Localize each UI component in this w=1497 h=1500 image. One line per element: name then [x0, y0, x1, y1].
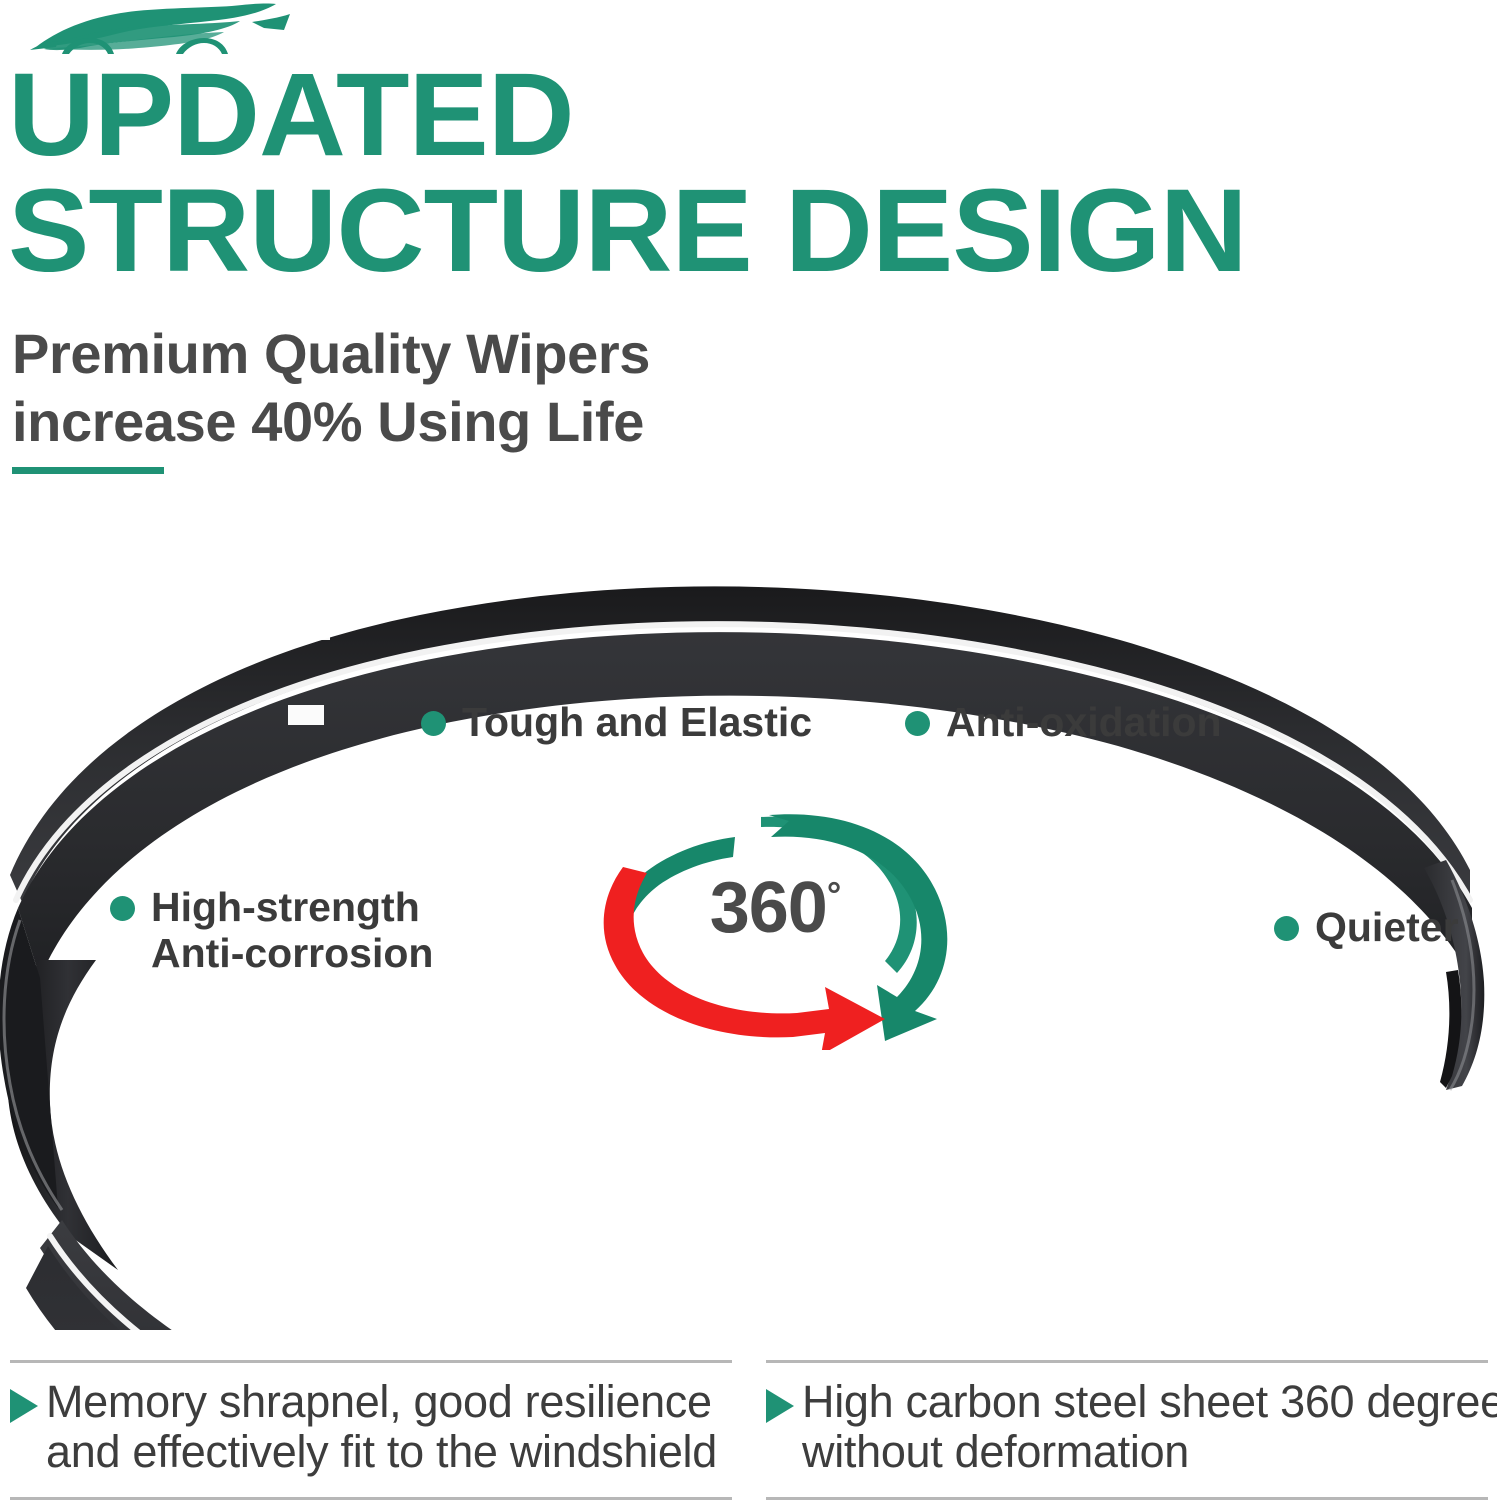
- callout-label: Quieter: [1315, 905, 1459, 951]
- subtitle-line-1: Premium Quality Wipers: [12, 320, 650, 388]
- callout-label: Tough and Elastic: [462, 700, 812, 746]
- bullet-dot-icon: [1274, 916, 1299, 941]
- strip-lower-inner: [26, 1246, 1166, 1330]
- subtitle-line-2: increase 40% Using Life: [12, 388, 650, 456]
- callout-label-line-2: Anti-corrosion: [151, 931, 433, 977]
- callout-tough-and-elastic: Tough and Elastic: [421, 700, 812, 746]
- bullet-dot-icon: [110, 896, 135, 921]
- callout-high-strength-anti-corrosion: High-strength Anti-corrosion: [110, 885, 433, 977]
- feature-line-1: Memory shrapnel, good resilience: [46, 1377, 717, 1427]
- feature-high-carbon-steel: High carbon steel sheet 360 degrees with…: [766, 1360, 1488, 1500]
- title-line-2: STRUCTURE DESIGN: [8, 174, 1497, 290]
- strip-lower-outer: [40, 1220, 1166, 1330]
- strip-notch-a: [296, 618, 330, 640]
- product-infographic: UPDATED STRUCTURE DESIGN Premium Quality…: [0, 0, 1497, 1500]
- feature-memory-shrapnel: Memory shrapnel, good resilience and eff…: [10, 1360, 732, 1500]
- title-line-1: UPDATED: [8, 58, 1497, 174]
- page-subtitle: Premium Quality Wipers increase 40% Usin…: [12, 320, 650, 457]
- triangle-right-icon: [10, 1389, 38, 1423]
- strip-highlight-lower: [50, 1236, 1166, 1330]
- accent-underline: [12, 467, 164, 474]
- callout-quieter: Quieter: [1274, 905, 1459, 951]
- bullet-dot-icon: [905, 711, 930, 736]
- callout-label-line-1: High-strength: [151, 885, 433, 931]
- page-title: UPDATED STRUCTURE DESIGN: [8, 58, 1493, 289]
- bullet-dot-icon: [421, 711, 446, 736]
- feature-line-2: without deformation: [802, 1427, 1497, 1477]
- callout-anti-oxidation: Anti-oxidation: [905, 700, 1222, 746]
- badge-value: 360°: [585, 867, 965, 949]
- badge-360-degrees: 360°: [585, 805, 965, 1050]
- feature-row: Memory shrapnel, good resilience and eff…: [0, 1360, 1497, 1500]
- feature-line-2: and effectively fit to the windshield: [46, 1427, 717, 1477]
- strip-notch-b: [288, 705, 324, 725]
- degree-symbol: °: [827, 874, 840, 915]
- callout-label: Anti-oxidation: [946, 700, 1222, 746]
- triangle-right-icon: [766, 1389, 794, 1423]
- feature-line-1: High carbon steel sheet 360 degrees: [802, 1377, 1497, 1427]
